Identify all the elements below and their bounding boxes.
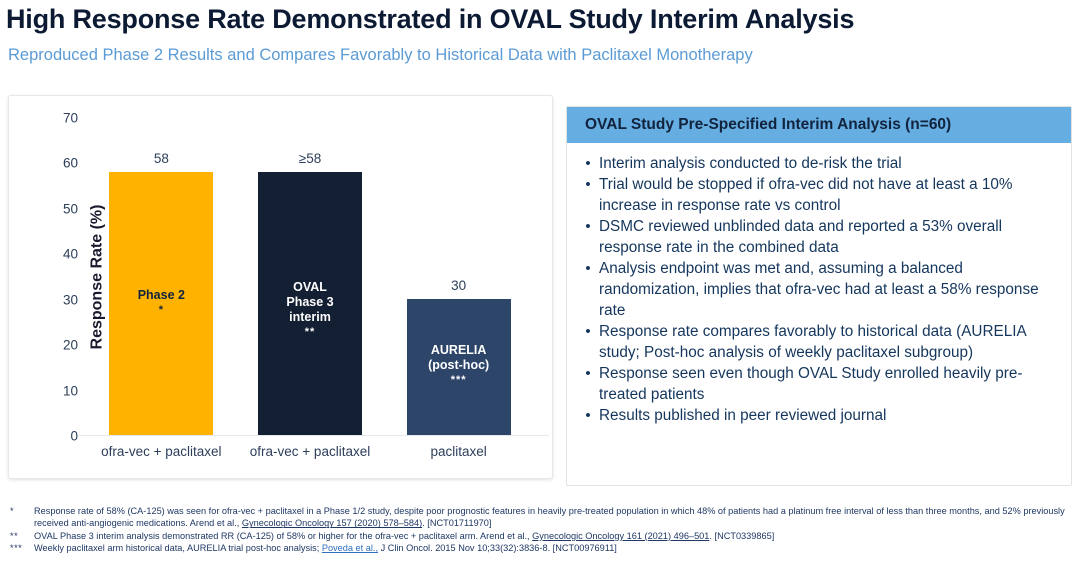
footnote-text: Weekly paclitaxel arm historical data, A… <box>34 542 1072 554</box>
y-tick-label: 50 <box>63 201 78 216</box>
bullet-icon: • <box>577 363 599 405</box>
footnote-citation[interactable]: Gynecologic Oncology 157 (2020) 578–584) <box>242 518 422 528</box>
bar-inner-line: Phase 3 <box>258 295 362 310</box>
footnote-text-part: . [NCT01711970] <box>422 518 491 528</box>
x-tick-label: ofra-vec + paclitaxel <box>87 444 235 459</box>
footnote-marker: ** <box>8 530 34 542</box>
panel-bullet-text: Trial would be stopped if ofra-vec did n… <box>599 174 1059 216</box>
bar-value-label: 58 <box>109 151 213 166</box>
x-axis-line <box>79 435 549 436</box>
bar-inner-label: Phase 2* <box>109 288 213 317</box>
panel-bullet-item: •Trial would be stopped if ofra-vec did … <box>577 174 1059 216</box>
bar-inner-line: AURELIA <box>407 343 511 358</box>
bar[interactable]: OVALPhase 3interim** <box>258 172 362 435</box>
panel-bullet-item: •DSMC reviewed unblinded data and report… <box>577 216 1059 258</box>
footnote-item: *Response rate of 58% (CA-125) was seen … <box>8 505 1072 530</box>
bar-slot: 58Phase 2*ofra-vec + paclitaxel <box>109 118 213 435</box>
bar-inner-line: (post-hoc) <box>407 358 511 373</box>
x-tick-label: ofra-vec + paclitaxel <box>236 444 384 459</box>
footnote-marker: *** <box>8 542 34 554</box>
panel-bullet-text: Response seen even though OVAL Study enr… <box>599 363 1059 405</box>
footnote-link[interactable]: Poveda et al., <box>322 543 378 553</box>
footnote-marker: * <box>8 505 34 530</box>
chart-card: Response Rate (%) 010203040506070 58Phas… <box>8 95 553 479</box>
footnote-text-part: OVAL Phase 3 interim analysis demonstrat… <box>34 531 532 541</box>
bullet-icon: • <box>577 153 599 174</box>
bar-inner-line: interim <box>258 310 362 325</box>
bar-chart: Response Rate (%) 010203040506070 58Phas… <box>87 118 533 436</box>
page-title: High Response Rate Demonstrated in OVAL … <box>6 2 1074 36</box>
panel-bullet-item: •Results published in peer reviewed jour… <box>577 405 1059 426</box>
footnotes: *Response rate of 58% (CA-125) was seen … <box>8 505 1072 555</box>
bullet-icon: • <box>577 405 599 426</box>
panel-bullet-item: •Response seen even though OVAL Study en… <box>577 363 1059 405</box>
panel-bullet-text: Analysis endpoint was met and, assuming … <box>599 258 1059 321</box>
bar-value-label: 30 <box>407 278 511 293</box>
footnote-item: **OVAL Phase 3 interim analysis demonstr… <box>8 530 1072 542</box>
bar-inner-label: AURELIA(post-hoc)*** <box>407 343 511 387</box>
slide: High Response Rate Demonstrated in OVAL … <box>0 0 1080 566</box>
footnote-text-part: . [NCT0339865] <box>709 531 774 541</box>
bar[interactable]: Phase 2* <box>109 172 213 435</box>
bullet-icon: • <box>577 321 599 363</box>
y-tick-label: 0 <box>70 429 78 444</box>
interim-analysis-panel: OVAL Study Pre-Specified Interim Analysi… <box>566 106 1072 486</box>
panel-bullet-text: Response rate compares favorably to hist… <box>599 321 1059 363</box>
bullet-icon: • <box>577 258 599 321</box>
footnote-text-part: Weekly paclitaxel arm historical data, A… <box>34 543 322 553</box>
panel-bullet-item: •Response rate compares favorably to his… <box>577 321 1059 363</box>
panel-bullet-item: •Analysis endpoint was met and, assuming… <box>577 258 1059 321</box>
panel-bullet-text: Results published in peer reviewed journ… <box>599 405 1059 426</box>
bullet-icon: • <box>577 174 599 216</box>
footnote-text-part: J Clin Oncol. 2015 Nov 10;33(32):3836-8.… <box>378 543 617 553</box>
y-tick-label: 70 <box>63 111 78 126</box>
y-tick-label: 10 <box>63 383 78 398</box>
bullet-icon: • <box>577 216 599 258</box>
panel-bullet-list: •Interim analysis conducted to de-risk t… <box>567 143 1071 426</box>
bar-group: 58Phase 2*ofra-vec + paclitaxel≥58OVALPh… <box>87 118 533 435</box>
bar-slot: 30AURELIA(post-hoc)***paclitaxel <box>407 118 511 435</box>
bar-slot: ≥58OVALPhase 3interim**ofra-vec + paclit… <box>258 118 362 435</box>
panel-bullet-text: Interim analysis conducted to de-risk th… <box>599 153 1059 174</box>
bar-inner-label: OVALPhase 3interim** <box>258 280 362 339</box>
footnote-text: Response rate of 58% (CA-125) was seen f… <box>34 505 1072 530</box>
y-tick-label: 20 <box>63 338 78 353</box>
bar-footnote-marker: * <box>109 303 213 317</box>
panel-bullet-item: •Interim analysis conducted to de-risk t… <box>577 153 1059 174</box>
bar-inner-line: Phase 2 <box>109 288 213 303</box>
x-tick-label: paclitaxel <box>385 444 533 459</box>
bar-footnote-marker: *** <box>407 373 511 387</box>
panel-bullet-text: DSMC reviewed unblinded data and reporte… <box>599 216 1059 258</box>
y-tick-label: 30 <box>63 292 78 307</box>
page-subtitle: Reproduced Phase 2 Results and Compares … <box>8 44 1068 66</box>
footnote-citation[interactable]: Gynecologic Oncology 161 (2021) 496–501 <box>532 531 709 541</box>
panel-header: OVAL Study Pre-Specified Interim Analysi… <box>567 107 1071 143</box>
bar-inner-line: OVAL <box>258 280 362 295</box>
footnote-text-part: Response rate of 58% (CA-125) was seen f… <box>34 506 1065 528</box>
bar-value-label: ≥58 <box>258 151 362 166</box>
bar[interactable]: AURELIA(post-hoc)*** <box>407 299 511 435</box>
bar-footnote-marker: ** <box>258 325 362 339</box>
y-tick-label: 40 <box>63 247 78 262</box>
footnote-text: OVAL Phase 3 interim analysis demonstrat… <box>34 530 1072 542</box>
footnote-item: ***Weekly paclitaxel arm historical data… <box>8 542 1072 554</box>
y-tick-label: 60 <box>63 156 78 171</box>
